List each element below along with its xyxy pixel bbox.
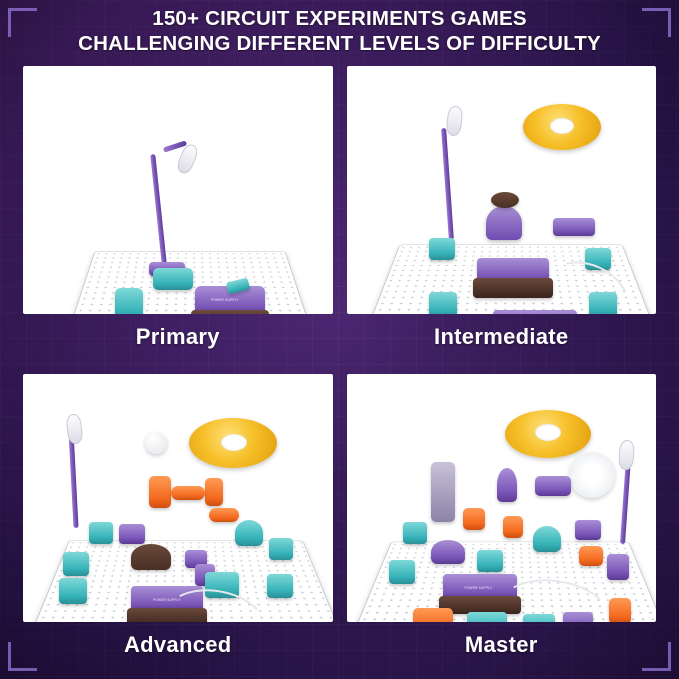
orange-module-right xyxy=(205,478,223,506)
led-lamp-stem xyxy=(620,458,631,544)
product-feature-image: 150+ CIRCUIT EXPERIMENTS GAMES CHALLENGI… xyxy=(0,0,679,679)
lamp-socket xyxy=(153,268,193,290)
headline: 150+ CIRCUIT EXPERIMENTS GAMES CHALLENGI… xyxy=(0,6,679,56)
module-b xyxy=(607,554,629,580)
orange-module-b xyxy=(503,516,523,538)
power-supply-label: POWER SUPPLY xyxy=(211,298,239,302)
led-lamp-stem xyxy=(68,430,78,528)
panel-advanced-photo: POWER SUPPLY xyxy=(23,374,333,622)
switch-module-c xyxy=(389,560,415,584)
caption-intermediate: Intermediate xyxy=(347,314,657,360)
panel-intermediate-photo: POWER SUPPLY xyxy=(347,66,657,314)
speaker-module-2 xyxy=(535,476,571,496)
motor-module xyxy=(431,540,465,564)
motor-blade xyxy=(491,192,519,208)
led-lamp-stem xyxy=(441,128,454,240)
module-a xyxy=(575,520,601,540)
orange-module-e xyxy=(609,598,631,622)
led-lamp-stem xyxy=(150,154,166,264)
motor-module xyxy=(486,206,522,240)
orange-module-c xyxy=(579,546,603,566)
switch-module-b xyxy=(63,552,89,576)
panel-grid: POWER SUPPLY Primary xyxy=(16,59,663,667)
panel-master: POWER SUPPLY Master xyxy=(340,367,664,675)
panel-intermediate: POWER SUPPLY Intermediate xyxy=(340,59,664,367)
headline-line-1: 150+ CIRCUIT EXPERIMENTS GAMES xyxy=(0,6,679,31)
orange-module-left xyxy=(149,476,171,508)
switch-module-left xyxy=(429,238,455,260)
meter-module xyxy=(431,462,455,522)
fan-blade-hub xyxy=(221,434,247,451)
motor-module xyxy=(131,544,171,570)
orange-module-arch xyxy=(171,486,205,500)
power-supply-label: POWER SUPPLY xyxy=(465,586,493,590)
led-lamp-head xyxy=(617,440,634,471)
caption-master: Master xyxy=(347,622,657,668)
orange-module-d xyxy=(413,608,453,622)
buzzer-module xyxy=(235,520,263,546)
switch-module-f xyxy=(267,574,293,598)
caption-primary: Primary xyxy=(23,314,333,360)
switch-module-c xyxy=(269,538,293,560)
orange-module-a xyxy=(463,508,485,530)
headline-line-2: CHALLENGING DIFFERENT LEVELS OF DIFFICUL… xyxy=(0,31,679,56)
speaker-module xyxy=(497,468,517,502)
module-top-right xyxy=(553,218,595,236)
module-center-base xyxy=(473,278,553,298)
ping-pong-ball xyxy=(145,432,167,454)
panel-primary-photo: POWER SUPPLY xyxy=(23,66,333,314)
panel-master-photo: POWER SUPPLY xyxy=(347,374,657,622)
switch-module-a xyxy=(403,522,427,544)
led-lamp-head xyxy=(445,105,463,136)
caption-advanced: Advanced xyxy=(23,622,333,668)
panel-primary: POWER SUPPLY Primary xyxy=(16,59,340,367)
switch-module-a xyxy=(89,522,113,544)
white-fan-guard xyxy=(569,452,615,498)
fan-blade-hub xyxy=(550,118,574,134)
switch-module-e xyxy=(59,578,87,604)
fan-blade-hub xyxy=(535,424,561,441)
panel-advanced: POWER SUPPLY Advanced xyxy=(16,367,340,675)
switch-module-b xyxy=(477,550,503,572)
module-a xyxy=(119,524,145,544)
switch-module xyxy=(115,288,143,314)
buzzer-module xyxy=(533,526,561,552)
orange-module-curve xyxy=(209,508,239,522)
